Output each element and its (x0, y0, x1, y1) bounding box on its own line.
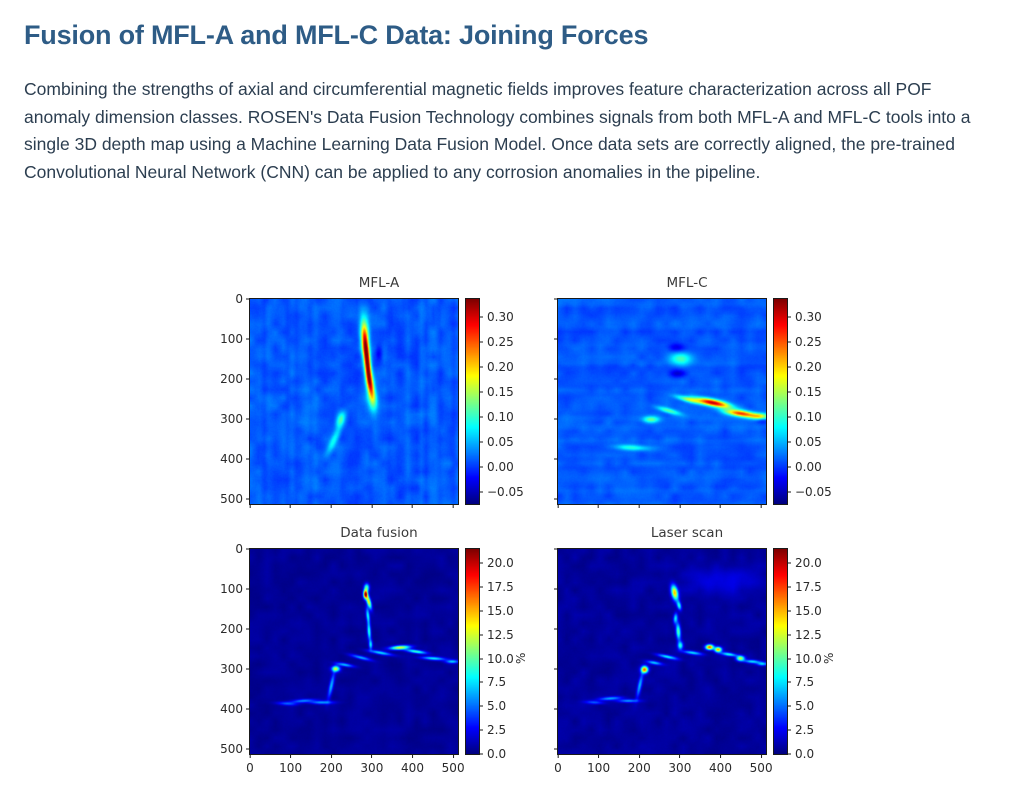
x-axis-tick: 100 (279, 754, 302, 775)
x-axis-tick: 0 (595, 504, 603, 525)
x-axis-tick: 200 (320, 754, 343, 775)
colorbar-tick: 0.10 (479, 410, 514, 424)
x-axis-tick: 0 (287, 504, 295, 525)
panel-data-fusion: Data fusion 0100200300400500010020030040… (249, 525, 509, 775)
colorbar-tick: 17.5 (479, 580, 514, 594)
intro-paragraph: Combining the strengths of axial and cir… (24, 76, 1002, 186)
x-axis-tick: 0 (327, 504, 335, 525)
x-axis-tick: 0 (554, 504, 562, 525)
colorbar-tick: 0.00 (479, 460, 514, 474)
y-axis-tick: 100 (220, 582, 250, 596)
colorbar-tick: 12.5 (787, 628, 822, 642)
colorbar-tick: 20.0 (787, 556, 822, 570)
y-axis-tick: 200 (220, 372, 250, 386)
heatmap-canvas-mfl-c (558, 299, 766, 504)
y-axis-tick: 400 (220, 452, 250, 466)
colorbar-tick: 15.0 (787, 604, 822, 618)
colorbar-tick: 0.30 (787, 310, 822, 324)
panel-title-data-fusion: Data fusion (249, 525, 509, 541)
colorbar-canvas-mfl-a (466, 299, 479, 504)
x-axis-tick: 0 (368, 504, 376, 525)
x-axis-tick: 0 (717, 504, 725, 525)
colorbar-tick: 2.5 (787, 723, 814, 737)
colorbar-mfl-a: −0.050.000.050.100.150.200.250.30 (465, 298, 480, 505)
y-axis-tick: 0 (543, 292, 558, 306)
colorbar-unit-label: % (514, 652, 528, 663)
plot-area-mfl-c[interactable]: 000000000000 (557, 298, 767, 505)
colorbar-tick: 0.15 (787, 385, 822, 399)
panel-title-laser-scan: Laser scan (557, 525, 817, 541)
x-axis-tick: 500 (442, 754, 465, 775)
colorbar-tick: 0.30 (479, 310, 514, 324)
x-axis-tick: 0 (676, 504, 684, 525)
y-axis-tick: 0 (543, 582, 558, 596)
y-axis-tick: 400 (220, 702, 250, 716)
x-axis-tick: 400 (401, 754, 424, 775)
x-axis-tick: 400 (709, 754, 732, 775)
y-axis-tick: 0 (543, 412, 558, 426)
panel-mfl-c: MFL-C 000000000000 −0.050.000.050.100.15… (557, 275, 817, 515)
y-axis-tick: 0 (543, 372, 558, 386)
colorbar-tick: 17.5 (787, 580, 822, 594)
x-axis-tick: 0 (409, 504, 417, 525)
y-axis-tick: 0 (543, 332, 558, 346)
y-axis-tick: 100 (220, 332, 250, 346)
colorbar-tick: −0.05 (787, 485, 832, 499)
colorbar-tick: 0.20 (479, 360, 514, 374)
x-axis-tick: 0 (554, 754, 562, 775)
x-axis-tick: 0 (246, 504, 254, 525)
colorbar-tick: 0.00 (787, 460, 822, 474)
heatmap-canvas-laser-scan (558, 549, 766, 754)
colorbar-canvas-data-fusion (466, 549, 479, 754)
y-axis-tick: 0 (543, 452, 558, 466)
x-axis-tick: 100 (587, 754, 610, 775)
y-axis-tick: 300 (220, 662, 250, 676)
figure-heatmap-grid: MFL-A 0100200300400500000000 −0.050.000.… (0, 255, 1026, 795)
colorbar-unit-label: % (822, 652, 836, 663)
colorbar-tick: 0.05 (479, 435, 514, 449)
page-title: Fusion of MFL-A and MFL-C Data: Joining … (24, 18, 1002, 52)
colorbar-tick: 0.0 (479, 747, 506, 761)
x-axis-tick: 200 (628, 754, 651, 775)
colorbar-tick: 12.5 (479, 628, 514, 642)
colorbar-tick: 0.15 (479, 385, 514, 399)
colorbar-tick: 0.0 (787, 747, 814, 761)
y-axis-tick: 0 (543, 542, 558, 556)
colorbar-canvas-laser-scan (774, 549, 787, 754)
plot-area-data-fusion[interactable]: 01002003004005000100200300400500 (249, 548, 459, 755)
colorbar-tick: 0.20 (787, 360, 822, 374)
colorbar-tick: 10.0 (479, 652, 514, 666)
colorbar-tick: 15.0 (479, 604, 514, 618)
panel-title-mfl-c: MFL-C (557, 275, 817, 291)
colorbar-mfl-c: −0.050.000.050.100.150.200.250.30 (773, 298, 788, 505)
colorbar-tick: 0.10 (787, 410, 822, 424)
colorbar-laser-scan: 0.02.55.07.510.012.515.017.520.0% (773, 548, 788, 755)
colorbar-tick: 0.05 (787, 435, 822, 449)
heatmap-canvas-data-fusion (250, 549, 458, 754)
y-axis-tick: 300 (220, 412, 250, 426)
colorbar-tick: 5.0 (787, 699, 814, 713)
colorbar-tick: 7.5 (787, 675, 814, 689)
x-axis-tick: 0 (246, 754, 254, 775)
y-axis-tick: 200 (220, 622, 250, 636)
y-axis-tick: 0 (543, 622, 558, 636)
colorbar-tick: 5.0 (479, 699, 506, 713)
y-axis-tick: 0 (543, 702, 558, 716)
colorbar-tick: 0.25 (479, 335, 514, 349)
colorbar-tick: −0.05 (479, 485, 524, 499)
heatmap-canvas-mfl-a (250, 299, 458, 504)
panel-laser-scan: Laser scan 0000000100200300400500 0.02.5… (557, 525, 817, 775)
colorbar-tick: 10.0 (787, 652, 822, 666)
plot-area-mfl-a[interactable]: 0100200300400500000000 (249, 298, 459, 505)
y-axis-tick: 0 (235, 292, 250, 306)
y-axis-tick: 0 (543, 662, 558, 676)
x-axis-tick: 300 (668, 754, 691, 775)
colorbar-canvas-mfl-c (774, 299, 787, 504)
panel-mfl-a: MFL-A 0100200300400500000000 −0.050.000.… (249, 275, 509, 515)
panel-title-mfl-a: MFL-A (249, 275, 509, 291)
colorbar-tick: 0.25 (787, 335, 822, 349)
article-body: Fusion of MFL-A and MFL-C Data: Joining … (0, 0, 1026, 186)
x-axis-tick: 500 (750, 754, 773, 775)
colorbar-tick: 2.5 (479, 723, 506, 737)
x-axis-tick: 0 (635, 504, 643, 525)
x-axis-tick: 300 (360, 754, 383, 775)
x-axis-tick: 0 (449, 504, 457, 525)
colorbar-tick: 20.0 (479, 556, 514, 570)
colorbar-tick: 7.5 (479, 675, 506, 689)
plot-area-laser-scan[interactable]: 0000000100200300400500 (557, 548, 767, 755)
colorbar-data-fusion: 0.02.55.07.510.012.515.017.520.0% (465, 548, 480, 755)
y-axis-tick: 0 (235, 542, 250, 556)
x-axis-tick: 0 (757, 504, 765, 525)
